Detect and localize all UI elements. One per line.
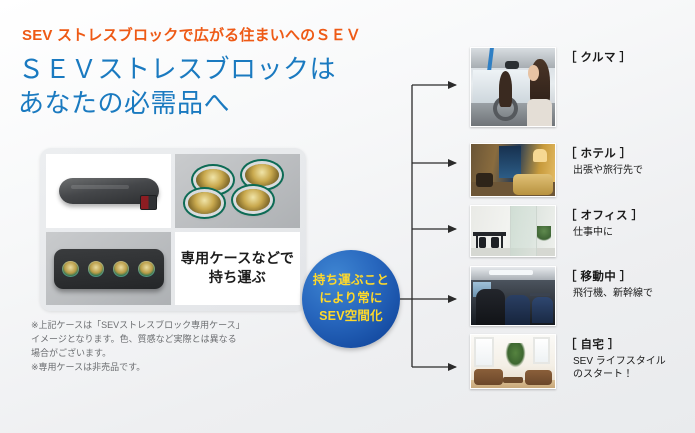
hotel-label: ［ ホテル ］ 出張や旅行先で: [565, 143, 643, 177]
scene-title: ［ オフィス ］: [565, 207, 643, 223]
sev-block-art: [245, 164, 279, 186]
scene-row-office: ［ オフィス ］ 仕事中に: [470, 205, 643, 257]
sev-block-art: [236, 189, 270, 211]
disclaimer-note: ※上記ケースは「SEVストレスブロック専用ケース」 イメージとなります。色、質感…: [31, 319, 286, 375]
car-scene-art: [471, 48, 555, 126]
zipper-tag-icon: [140, 195, 157, 210]
case-slot: [88, 261, 105, 277]
main-headline: ＳＥＶストレスブロックは あなたの必需品へ: [18, 52, 336, 121]
product-grid: 専用ケースなどで 持ち運ぶ: [46, 154, 300, 305]
train-scene-art: [471, 267, 555, 325]
product-panel: 専用ケースなどで 持ち運ぶ: [40, 148, 306, 311]
poster-canvas: SEV ストレスブロックで広がる住まいへのＳＥＶ ＳＥＶストレスブロックは あな…: [0, 0, 695, 433]
case-closed-art: [59, 178, 159, 204]
scene-subtitle: 飛行機、新幹線で: [565, 287, 653, 300]
sev-block-art: [196, 169, 230, 191]
car-thumbnail: [470, 47, 556, 127]
scene-row-home: ［ 自宅 ］ SEV ライフスタイル のスタート！: [470, 334, 666, 389]
scene-title: ［ 移動中 ］: [565, 268, 653, 284]
train-thumbnail: [470, 266, 556, 326]
scene-row-train: ［ 移動中 ］ 飛行機、新幹線で: [470, 266, 653, 326]
scene-title: ［ 自宅 ］: [565, 336, 666, 352]
scene-row-car: ［ クルマ ］: [470, 47, 631, 127]
product-caption: 専用ケースなどで 持ち運ぶ: [175, 232, 300, 306]
scene-subtitle: 出張や旅行先で: [565, 164, 643, 177]
home-thumbnail: [470, 334, 556, 389]
office-thumbnail: [470, 205, 556, 257]
hotel-thumbnail: [470, 143, 556, 197]
scene-subtitle: 仕事中に: [565, 226, 643, 239]
open-case-photo: [46, 232, 171, 306]
closed-case-photo: [46, 154, 171, 228]
hotel-scene-art: [471, 144, 555, 196]
case-slot: [138, 261, 155, 277]
callout-text: 持ち運ぶこと により常に SEV空間化: [313, 272, 389, 325]
home-scene-art: [471, 335, 555, 388]
case-slot: [113, 261, 130, 277]
blocks-photo: [175, 154, 300, 228]
callout-circle: 持ち運ぶこと により常に SEV空間化: [302, 250, 400, 348]
car-label: ［ クルマ ］: [565, 47, 631, 68]
case-open-art: [54, 249, 164, 289]
caption-cell: 専用ケースなどで 持ち運ぶ: [175, 232, 300, 306]
sev-block-art: [188, 192, 222, 214]
home-label: ［ 自宅 ］ SEV ライフスタイル のスタート！: [565, 334, 666, 382]
office-scene-art: [471, 206, 555, 256]
scene-title: ［ クルマ ］: [565, 49, 631, 65]
kicker-headline: SEV ストレスブロックで広がる住まいへのＳＥＶ: [22, 24, 361, 45]
train-label: ［ 移動中 ］ 飛行機、新幹線で: [565, 266, 653, 300]
office-label: ［ オフィス ］ 仕事中に: [565, 205, 643, 239]
scene-row-hotel: ［ ホテル ］ 出張や旅行先で: [470, 143, 643, 197]
scene-title: ［ ホテル ］: [565, 145, 643, 161]
case-slot: [62, 261, 79, 277]
scene-subtitle: SEV ライフスタイル のスタート！: [565, 355, 666, 382]
